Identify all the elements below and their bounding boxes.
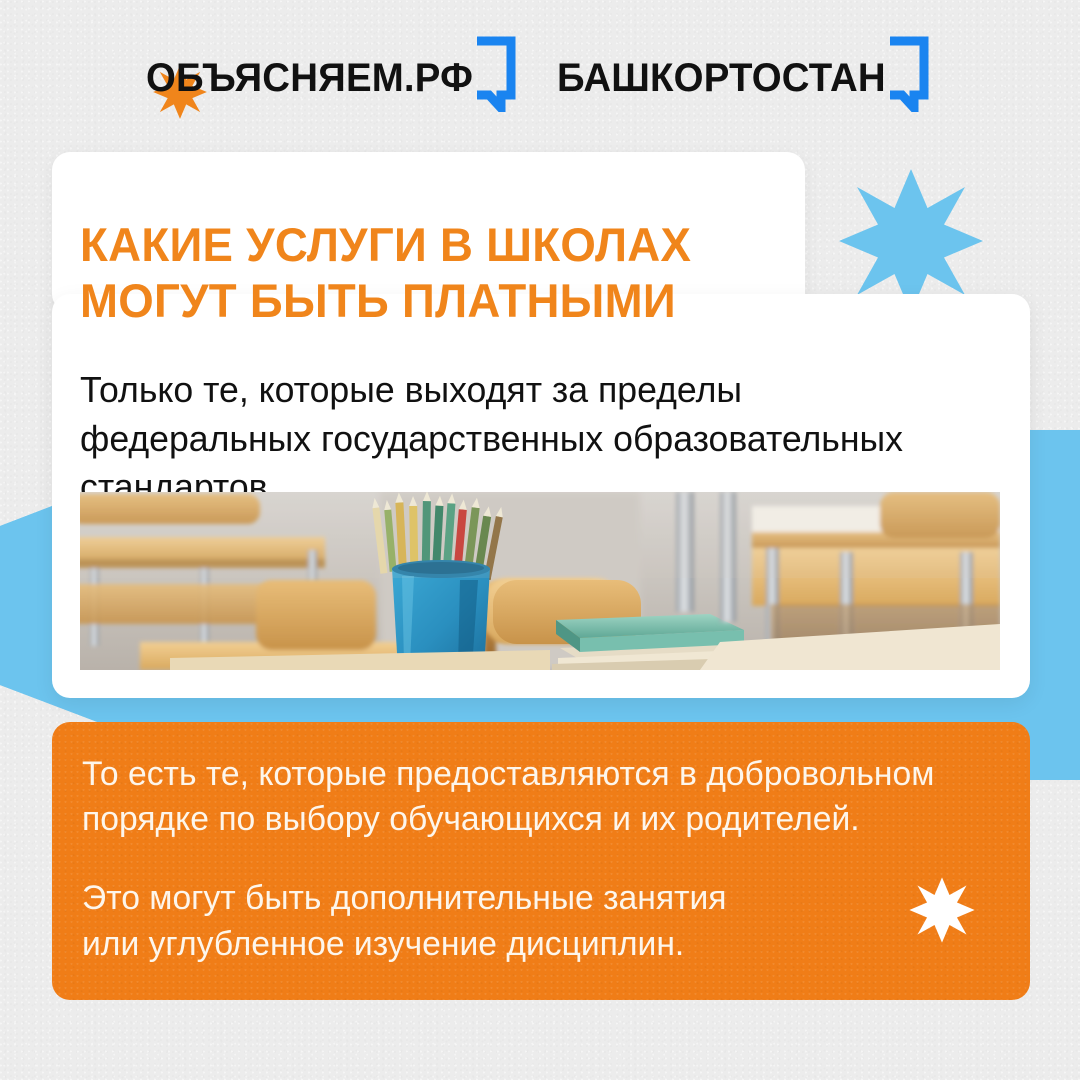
page-title-line: КАКИЕ УСЛУГИ В ШКОЛАХ	[80, 217, 778, 272]
speech-bubble-bracket-icon	[888, 36, 934, 112]
orange-panel-line: или углубленное изучение дисциплин.	[82, 922, 1003, 967]
card-lead-line: Только те, которые выходят за пределы	[80, 366, 981, 415]
star-8-point-white-icon	[908, 876, 976, 944]
infographic-poster: ОБЪЯСНЯЕМ.РФ БАШКОРТОСТАН КАКИЕ УСЛУГИ В…	[0, 0, 1080, 1080]
orange-panel-paragraph: Это могут быть дополнительные занятия ил…	[82, 876, 1003, 966]
orange-panel-text: То есть те, которые предоставляются в до…	[82, 752, 1003, 967]
orange-panel-line: порядке по выбору обучающихся и их родит…	[82, 797, 1003, 842]
orange-info-panel: То есть те, которые предоставляются в до…	[52, 722, 1030, 1000]
orange-panel-paragraph: То есть те, которые предоставляются в до…	[82, 752, 1003, 842]
orange-panel-line: Это могут быть дополнительные занятия	[82, 876, 1003, 921]
logo-obyasnyaem-rf[interactable]: ОБЪЯСНЯЕМ.РФ	[146, 38, 521, 118]
speech-bubble-bracket-icon	[475, 36, 521, 112]
orange-panel-line: То есть те, которые предоставляются в до…	[82, 752, 1003, 797]
logo-obyasnyaem-rf-label: ОБЪЯСНЯЕМ.РФ	[146, 58, 473, 98]
classroom-photo	[80, 492, 1000, 670]
page-title-line: МОГУТ БЫТЬ ПЛАТНЫМИ	[80, 273, 778, 328]
page-title: КАКИЕ УСЛУГИ В ШКОЛАХ МОГУТ БЫТЬ ПЛАТНЫМ…	[80, 217, 778, 328]
card-lead-line: федеральных государственных образователь…	[80, 415, 981, 464]
logo-bashkortostan[interactable]: БАШКОРТОСТАН	[557, 38, 934, 118]
card-lead-text: Только те, которые выходят за пределы фе…	[80, 366, 981, 512]
header-logos: ОБЪЯСНЯЕМ.РФ БАШКОРТОСТАН	[0, 36, 1080, 120]
logo-bashkortostan-label: БАШКОРТОСТАН	[557, 58, 886, 98]
